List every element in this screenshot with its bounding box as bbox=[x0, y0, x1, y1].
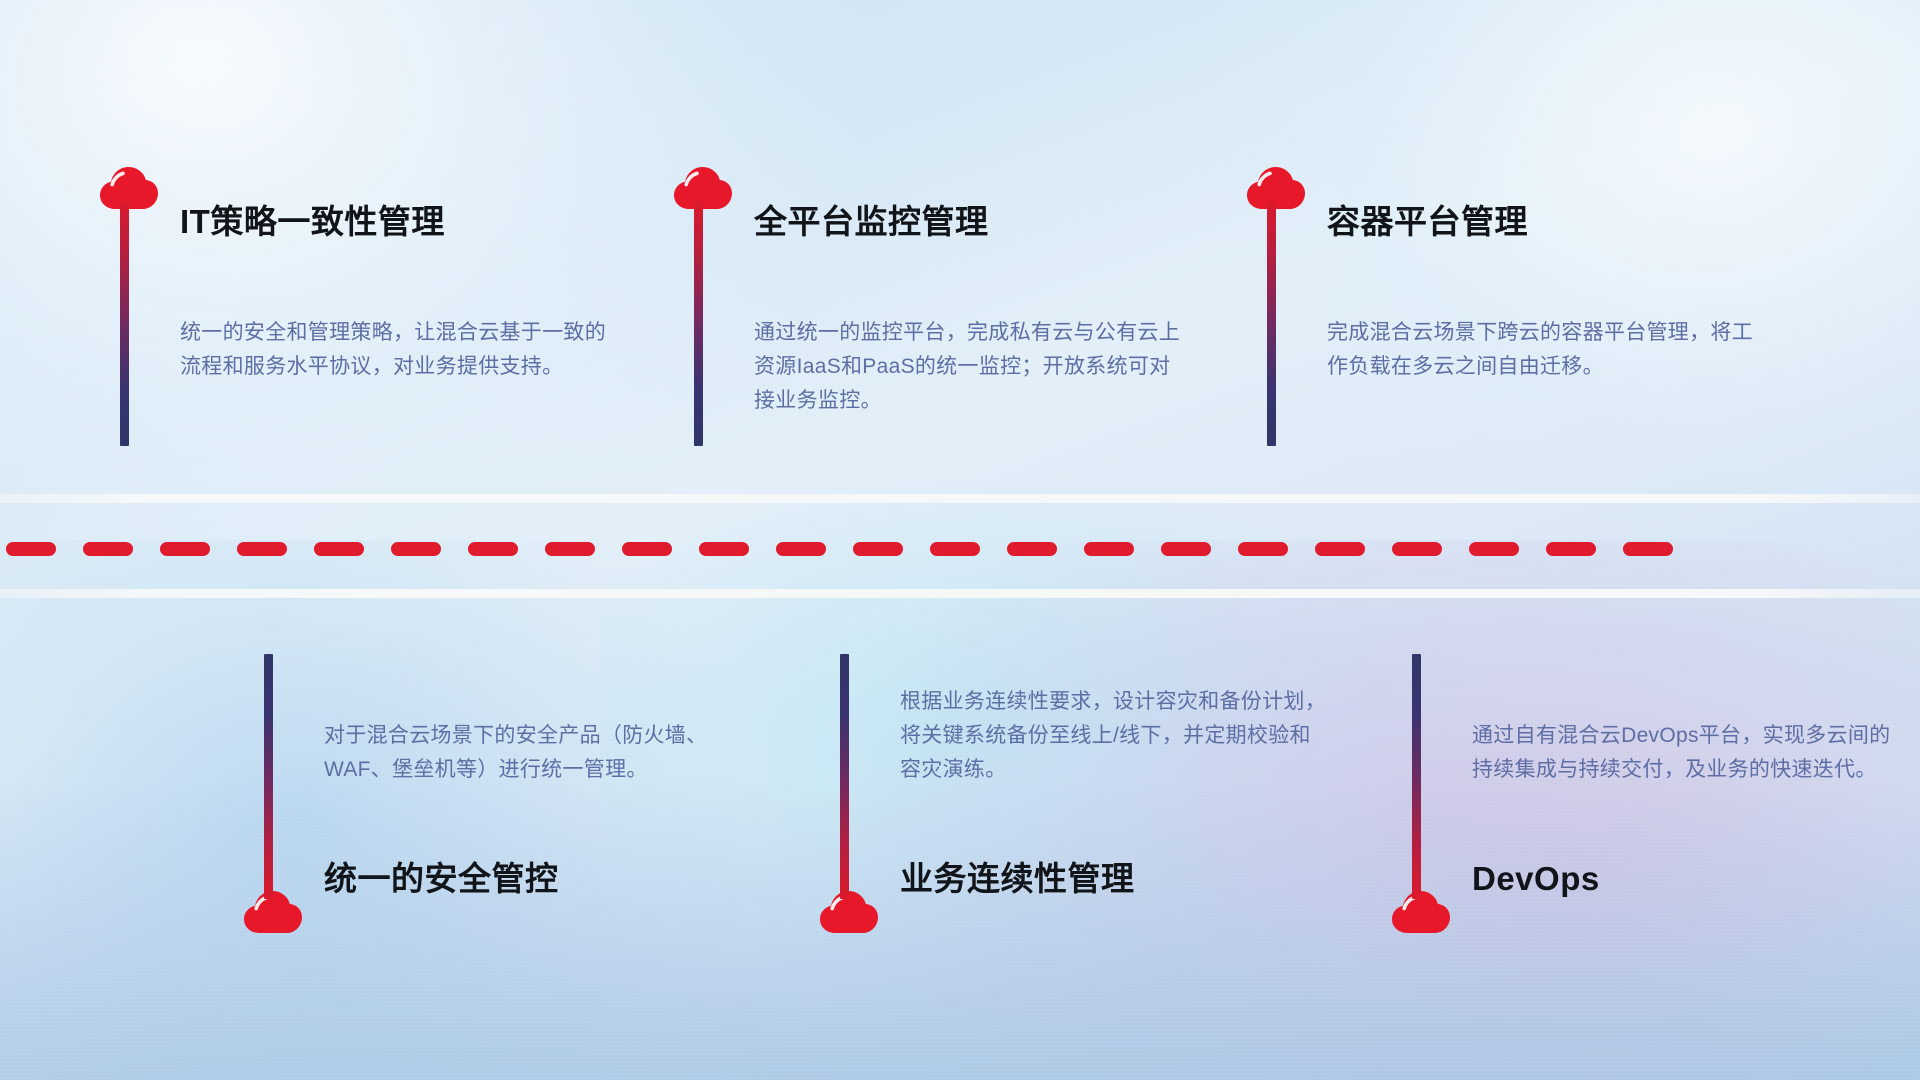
feature-title: 全平台监控管理 bbox=[754, 205, 989, 238]
feature-description: 对于混合云场景下的安全产品（防火墙、WAF、堡垒机等）进行统一管理。 bbox=[324, 719, 754, 787]
divider-dash bbox=[1161, 542, 1211, 556]
divider-dash bbox=[1315, 542, 1365, 556]
feature-description: 统一的安全和管理策略，让混合云基于一致的流程和服务水平协议，对业务提供支持。 bbox=[180, 316, 610, 384]
divider-dash bbox=[6, 542, 56, 556]
cloud-icon bbox=[1390, 889, 1452, 935]
divider-dash bbox=[83, 542, 133, 556]
divider-dash bbox=[468, 542, 518, 556]
feature-title: 容器平台管理 bbox=[1327, 205, 1528, 238]
feature-title: DevOps bbox=[1472, 862, 1600, 895]
divider-dash bbox=[545, 542, 595, 556]
cloud-icon bbox=[818, 889, 880, 935]
divider-dash bbox=[160, 542, 210, 556]
feature-item-unified-security: 统一的安全管控 对于混合云场景下的安全产品（防火墙、WAF、堡垒机等）进行统一管… bbox=[242, 625, 712, 935]
connector-line bbox=[264, 654, 273, 899]
feature-title: 统一的安全管控 bbox=[324, 862, 559, 895]
feature-item-container-platform: 容器平台管理 完成混合云场景下跨云的容器平台管理，将工作负载在多云之间自由迁移。 bbox=[1245, 165, 1715, 465]
divider-dash bbox=[622, 542, 672, 556]
divider-dash bbox=[1007, 542, 1057, 556]
connector-line bbox=[840, 654, 849, 899]
infographic-canvas: IT策略一致性管理 统一的安全和管理策略，让混合云基于一致的流程和服务水平协议，… bbox=[0, 0, 1920, 1080]
divider-dash bbox=[699, 542, 749, 556]
feature-description: 根据业务连续性要求，设计容灾和备份计划，将关键系统备份至线上/线下，并定期校验和… bbox=[900, 685, 1330, 787]
divider-dash bbox=[1238, 542, 1288, 556]
divider-dash bbox=[1623, 542, 1673, 556]
feature-title: 业务连续性管理 bbox=[900, 862, 1135, 895]
cloud-icon bbox=[242, 889, 304, 935]
divider-dash bbox=[1084, 542, 1134, 556]
divider-dash bbox=[776, 542, 826, 556]
feature-description: 完成混合云场景下跨云的容器平台管理，将工作负载在多云之间自由迁移。 bbox=[1327, 316, 1757, 384]
divider-dash bbox=[1392, 542, 1442, 556]
connector-line bbox=[1412, 654, 1421, 899]
feature-item-devops: DevOps 通过自有混合云DevOps平台，实现多云间的持续集成与持续交付，及… bbox=[1390, 625, 1860, 935]
cloud-icon bbox=[98, 165, 160, 211]
divider-bar-bottom bbox=[0, 589, 1920, 598]
cloud-icon bbox=[1245, 165, 1307, 211]
divider-dash bbox=[391, 542, 441, 556]
divider-dash bbox=[237, 542, 287, 556]
divider-dash bbox=[314, 542, 364, 556]
feature-title: IT策略一致性管理 bbox=[180, 205, 445, 238]
connector-line bbox=[1267, 201, 1276, 446]
divider-dash bbox=[853, 542, 903, 556]
divider-dash bbox=[1469, 542, 1519, 556]
divider-dash bbox=[930, 542, 980, 556]
cloud-icon bbox=[672, 165, 734, 211]
feature-description: 通过自有混合云DevOps平台，实现多云间的持续集成与持续交付，及业务的快速迭代… bbox=[1472, 719, 1902, 787]
divider-dash bbox=[1546, 542, 1596, 556]
divider-dashed-line bbox=[0, 541, 1920, 556]
feature-item-business-continuity: 业务连续性管理 根据业务连续性要求，设计容灾和备份计划，将关键系统备份至线上/线… bbox=[818, 625, 1288, 935]
feature-description: 通过统一的监控平台，完成私有云与公有云上资源IaaS和PaaS的统一监控；开放系… bbox=[754, 316, 1184, 418]
connector-line bbox=[120, 201, 129, 446]
connector-line bbox=[694, 201, 703, 446]
feature-item-platform-monitoring: 全平台监控管理 通过统一的监控平台，完成私有云与公有云上资源IaaS和PaaS的… bbox=[672, 165, 1142, 465]
feature-item-it-policy: IT策略一致性管理 统一的安全和管理策略，让混合云基于一致的流程和服务水平协议，… bbox=[98, 165, 568, 465]
divider-bar-top bbox=[0, 494, 1920, 503]
